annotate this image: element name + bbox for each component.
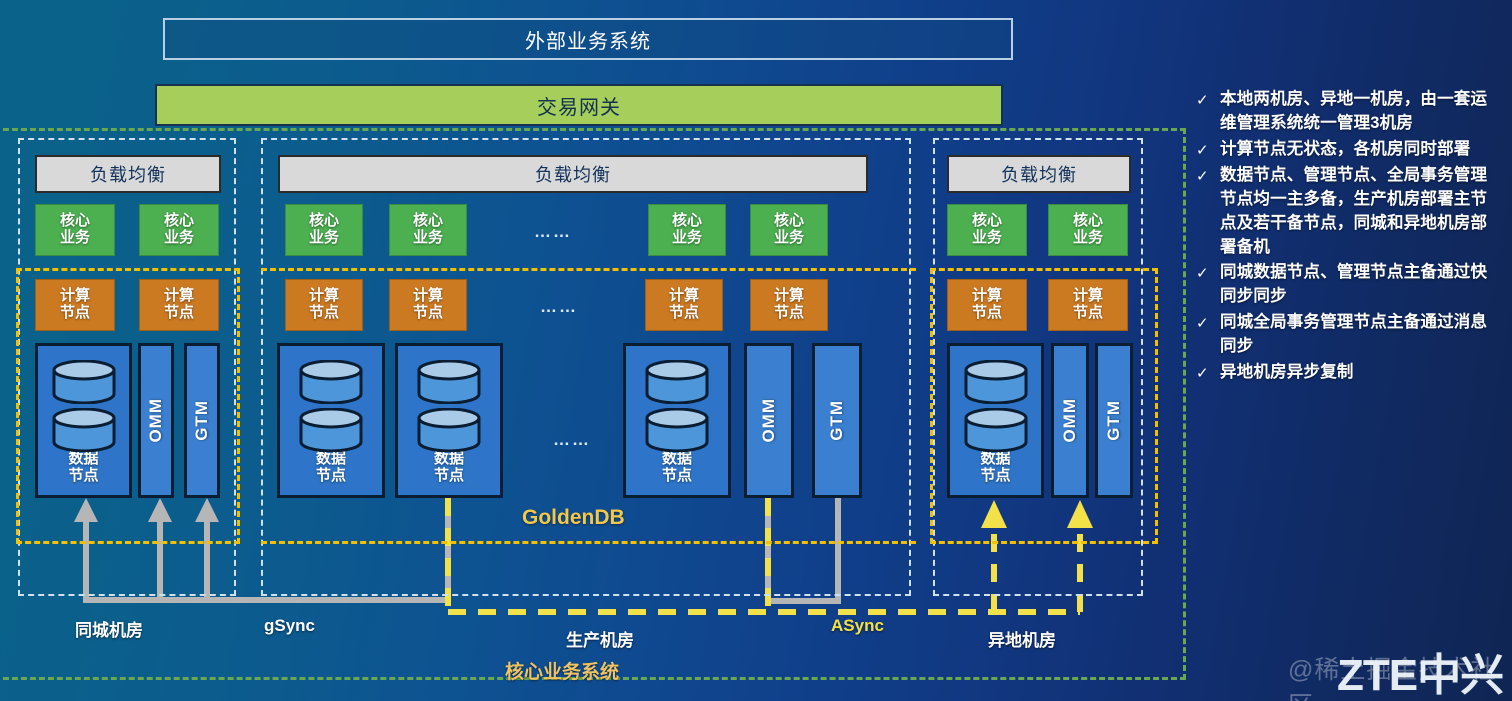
compute-node-label-line1: 计算 [413,288,443,305]
data-node-box: 数据 节点 [277,343,385,498]
compute-node-label-line1: 计算 [669,288,699,305]
data-node-label-line2: 节点 [316,468,346,485]
cylinder-icon [52,360,116,404]
compute-node-box: 计算 节点 [947,279,1027,331]
compute-node-label-line2: 节点 [774,305,804,322]
database-cylinder-icon [38,360,129,452]
bullet-text: 本地两机房、异地一机房，由一套运维管理系统统一管理3机房 [1220,88,1496,136]
transaction-gateway-box: 交易网关 [155,84,1003,126]
bullet-text: 同城数据节点、管理节点主备通过快同步同步 [1220,261,1496,309]
core-business-label-line1: 核心 [1073,213,1103,230]
compute-node-box: 计算 节点 [750,279,828,331]
compute-node-label-line1: 计算 [972,288,1002,305]
list-item: ✓ 同城数据节点、管理节点主备通过快同步同步 [1196,261,1496,309]
compute-node-label-line1: 计算 [309,288,339,305]
data-node-label-line1: 数据 [68,451,98,468]
bullet-text: 异地机房异步复制 [1220,361,1354,385]
gtm-label: GTM [1104,400,1124,441]
datacenter-label-production: 生产机房 [566,626,634,651]
gtm-box: GTM [184,343,220,498]
cylinder-icon [645,408,709,452]
load-balancer-local-standby: 负载均衡 [35,155,221,193]
data-node-box: 数据 节点 [947,343,1044,498]
data-node-label-line1: 数据 [434,451,464,468]
data-node-label-line1: 数据 [662,451,692,468]
data-node-box: 数据 节点 [35,343,132,498]
diagram-canvas: 外部业务系统 交易网关 负载均衡 核心 业务 核心 业务 计算 节点 计算 节点 [0,0,1512,701]
ellipsis-data-node: …… [553,430,591,450]
compute-node-box: 计算 节点 [139,279,219,331]
core-business-label-line2: 业务 [164,230,194,247]
cylinder-icon [417,408,481,452]
load-balancer-label: 负载均衡 [535,161,611,187]
compute-node-label-line2: 节点 [309,305,339,322]
core-business-box: 核心 业务 [750,204,828,256]
cylinder-icon [299,360,363,404]
omm-label: OMM [1060,398,1080,443]
core-business-box: 核心 业务 [35,204,115,256]
cylinder-icon [52,408,116,452]
compute-node-box: 计算 节点 [285,279,363,331]
list-item: ✓ 同城全局事务管理节点主备通过消息同步 [1196,311,1496,359]
core-business-label-line2: 业务 [774,230,804,247]
list-item: ✓ 异地机房异步复制 [1196,361,1496,385]
data-node-box: 数据 节点 [395,343,503,498]
compute-node-label-line2: 节点 [669,305,699,322]
load-balancer-label: 负载均衡 [90,161,166,187]
omm-box: OMM [1051,343,1089,498]
core-business-box: 核心 业务 [285,204,363,256]
list-item: ✓ 数据节点、管理节点、全局事务管理节点均一主多备，生产机房部署主节点及若干备节… [1196,164,1496,260]
core-business-label-line1: 核心 [164,213,194,230]
data-node-label-line1: 数据 [316,451,346,468]
core-business-box: 核心 业务 [389,204,467,256]
data-node-label-line2: 节点 [68,468,98,485]
check-icon: ✓ [1196,138,1210,162]
compute-node-label-line1: 计算 [774,288,804,305]
gsync-link-label: gSync [264,616,315,636]
omm-box: OMM [744,343,794,498]
datacenter-label-local-standby: 同城机房 [75,616,143,641]
core-business-label-line2: 业务 [309,230,339,247]
load-balancer-remote: 负载均衡 [947,155,1131,193]
external-system-box: 外部业务系统 [163,18,1013,60]
goldendb-label: GoldenDB [522,506,625,530]
core-business-box: 核心 业务 [947,204,1027,256]
data-node-label-line2: 节点 [434,468,464,485]
cylinder-icon [645,360,709,404]
cylinder-icon [964,408,1028,452]
check-icon: ✓ [1196,361,1210,385]
core-business-label-line2: 业务 [672,230,702,247]
external-system-label: 外部业务系统 [525,25,651,54]
datacenter-label-remote: 异地机房 [988,626,1056,651]
feature-bullet-list: ✓ 本地两机房、异地一机房，由一套运维管理系统统一管理3机房 ✓ 计算节点无状态… [1196,88,1496,387]
database-cylinder-icon [950,360,1041,452]
zte-logo: ZTE中兴 [1337,639,1503,701]
core-business-box: 核心 业务 [648,204,726,256]
data-node-box: 数据 节点 [623,343,731,498]
compute-node-label-line2: 节点 [413,305,443,322]
transaction-gateway-label: 交易网关 [537,91,621,120]
compute-node-box: 计算 节点 [645,279,723,331]
check-icon: ✓ [1196,164,1210,260]
core-business-label-line1: 核心 [309,213,339,230]
compute-node-label-line2: 节点 [972,305,1002,322]
compute-node-label-line1: 计算 [164,288,194,305]
data-node-label-line2: 节点 [980,468,1010,485]
core-business-box: 核心 业务 [139,204,219,256]
gtm-label: GTM [192,400,212,441]
cylinder-icon [964,360,1028,404]
ellipsis-compute-node: …… [540,297,578,317]
omm-box: OMM [138,343,174,498]
core-business-label-line1: 核心 [972,213,1002,230]
cylinder-icon [299,408,363,452]
core-business-box: 核心 业务 [1048,204,1128,256]
compute-node-label-line2: 节点 [60,305,90,322]
compute-node-box: 计算 节点 [1048,279,1128,331]
core-business-label-line1: 核心 [774,213,804,230]
gtm-box: GTM [812,343,862,498]
core-business-label-line1: 核心 [413,213,443,230]
gtm-box: GTM [1095,343,1133,498]
compute-node-label-line2: 节点 [1073,305,1103,322]
check-icon: ✓ [1196,311,1210,359]
core-business-label-line2: 业务 [972,230,1002,247]
compute-node-label-line2: 节点 [164,305,194,322]
compute-node-label-line1: 计算 [1073,288,1103,305]
gtm-label: GTM [827,400,847,441]
database-cylinder-icon [626,360,728,452]
core-business-label-line2: 业务 [413,230,443,247]
check-icon: ✓ [1196,88,1210,136]
bullet-text: 同城全局事务管理节点主备通过消息同步 [1220,311,1496,359]
compute-node-label-line1: 计算 [60,288,90,305]
async-link-label: ASync [831,616,884,636]
compute-node-box: 计算 节点 [389,279,467,331]
core-business-label-line1: 核心 [60,213,90,230]
check-icon: ✓ [1196,261,1210,309]
ellipsis-core-business: …… [534,222,572,242]
cylinder-icon [417,360,481,404]
list-item: ✓ 本地两机房、异地一机房，由一套运维管理系统统一管理3机房 [1196,88,1496,136]
data-node-label-line1: 数据 [980,451,1010,468]
omm-label: OMM [146,398,166,443]
load-balancer-label: 负载均衡 [1001,161,1077,187]
core-business-system-label: 核心业务系统 [505,657,619,684]
bullet-text: 计算节点无状态，各机房同时部署 [1220,138,1471,162]
compute-node-box: 计算 节点 [35,279,115,331]
database-cylinder-icon [280,360,382,452]
core-business-label-line2: 业务 [60,230,90,247]
omm-label: OMM [759,398,779,443]
database-cylinder-icon [398,360,500,452]
core-business-label-line1: 核心 [672,213,702,230]
list-item: ✓ 计算节点无状态，各机房同时部署 [1196,138,1496,162]
bullet-text: 数据节点、管理节点、全局事务管理节点均一主多备，生产机房部署主节点及若干备节点，… [1220,164,1496,260]
load-balancer-production: 负载均衡 [278,155,868,193]
data-node-label-line2: 节点 [662,468,692,485]
core-business-label-line2: 业务 [1073,230,1103,247]
